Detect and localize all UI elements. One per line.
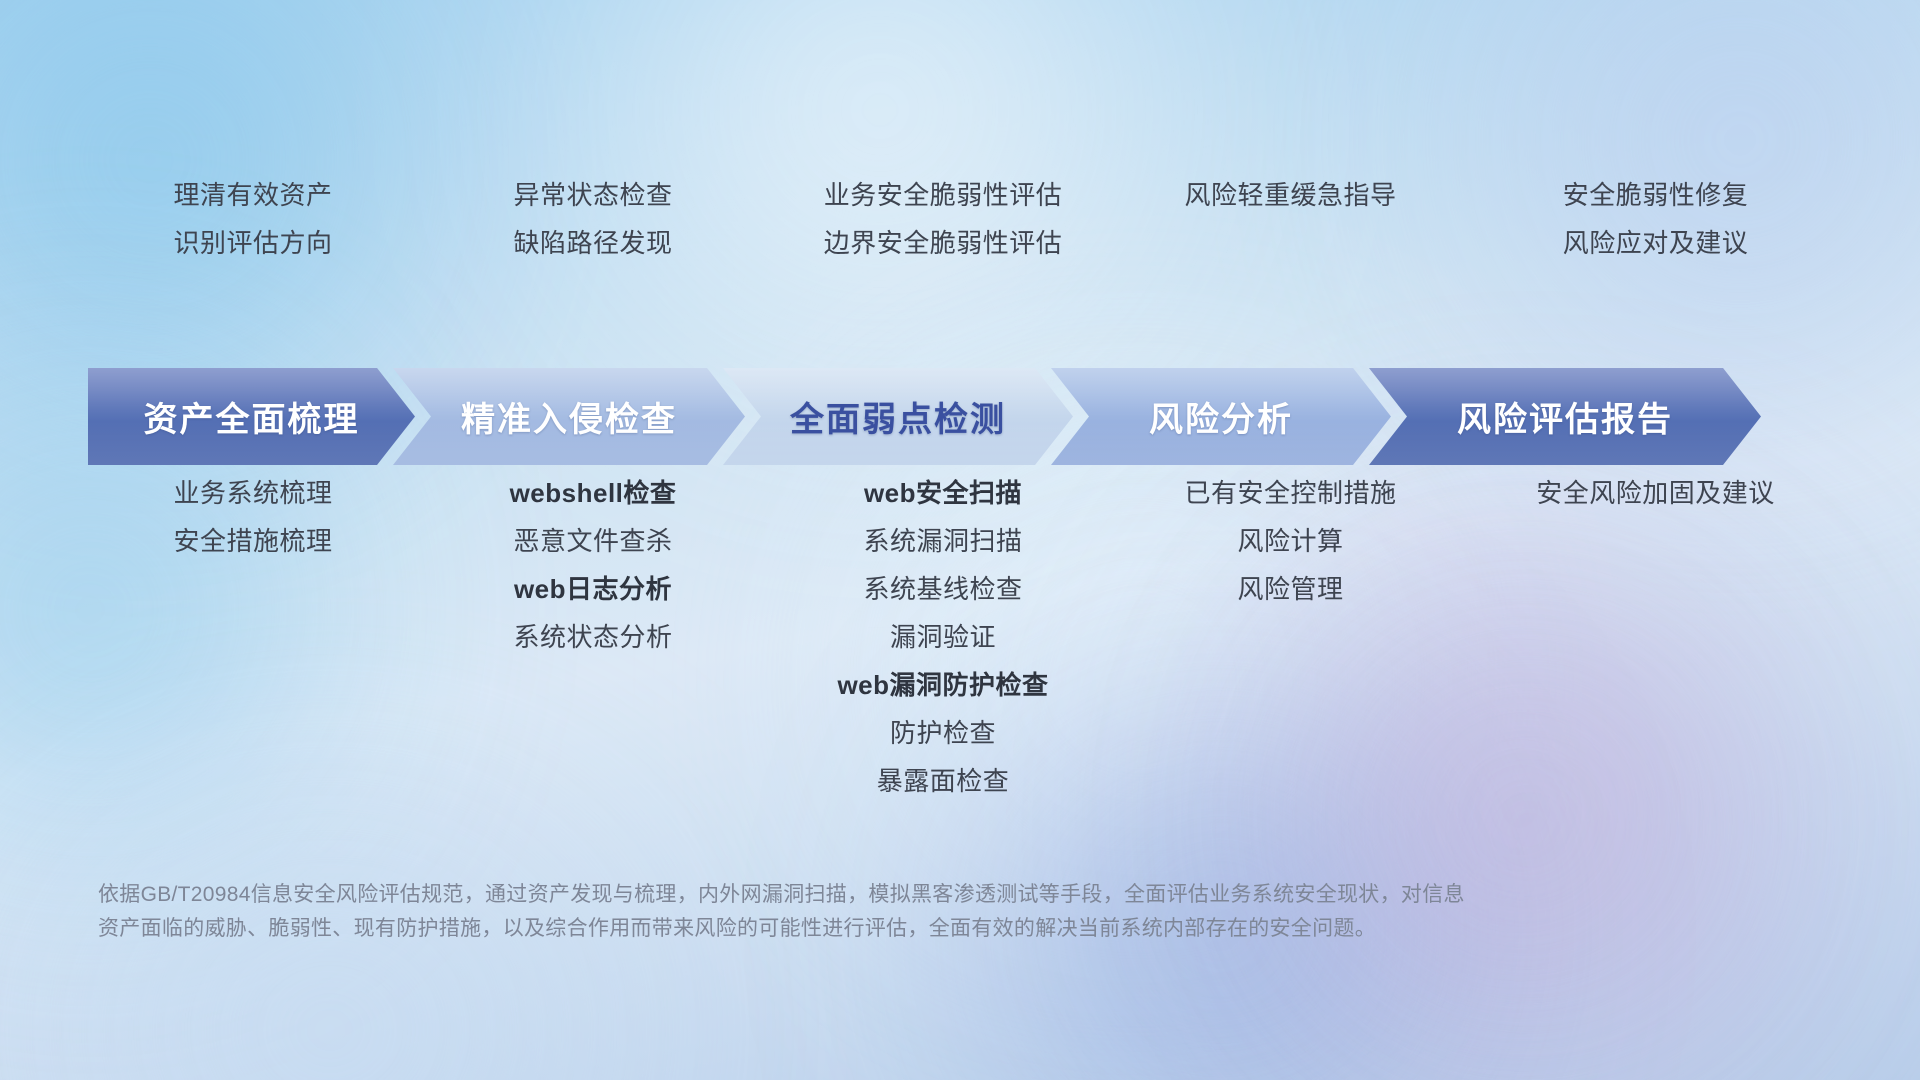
bottom-note: 业务系统梳理 xyxy=(173,480,332,506)
bottom-note: 系统基线检查 xyxy=(863,576,1022,602)
bottom-note: 系统状态分析 xyxy=(513,624,672,650)
bottom-note: web日志分析 xyxy=(514,576,672,602)
bottom-note: webshell检查 xyxy=(510,480,677,506)
chevron-stage-asset-inventory[interactable]: 资产全面梳理 xyxy=(88,368,415,465)
bottom-note: 风险管理 xyxy=(1237,576,1343,602)
bottom-note: 暴露面检查 xyxy=(877,768,1010,794)
top-note: 异常状态检查 xyxy=(513,182,672,208)
top-notes-risk-report: 安全脆弱性修复 风险应对及建议 xyxy=(1463,182,1848,292)
footer-line-2: 资产面临的威胁、脆弱性、现有防护措施，以及综合作用而带来风险的可能性进行评估，全… xyxy=(98,912,1658,946)
bottom-note: 系统漏洞扫描 xyxy=(863,528,1022,554)
top-notes-risk-analysis: 风险轻重缓急指导 xyxy=(1118,182,1463,292)
chevron-label: 风险分析 xyxy=(1149,392,1293,441)
top-note: 边界安全脆弱性评估 xyxy=(824,230,1063,256)
bottom-note: 漏洞验证 xyxy=(890,624,996,650)
top-notes-weakness-detection: 业务安全脆弱性评估 边界安全脆弱性评估 xyxy=(768,182,1118,292)
top-notes-row: 理清有效资产 识别评估方向 异常状态检查 缺陷路径发现 业务安全脆弱性评估 边界… xyxy=(88,182,1848,292)
bottom-note: 风险计算 xyxy=(1237,528,1343,554)
footer-line-1: 依据GB/T20984信息安全风险评估规范，通过资产发现与梳理，内外网漏洞扫描，… xyxy=(98,878,1658,912)
bottom-note: web安全扫描 xyxy=(864,480,1022,506)
top-notes-asset-inventory: 理清有效资产 识别评估方向 xyxy=(88,182,418,292)
bottom-notes-weakness-detection: web安全扫描 系统漏洞扫描 系统基线检查 漏洞验证 web漏洞防护检查 防护检… xyxy=(768,480,1118,770)
top-note: 缺陷路径发现 xyxy=(513,230,672,256)
top-note: 风险轻重缓急指导 xyxy=(1184,182,1396,208)
bottom-note: web漏洞防护检查 xyxy=(837,672,1048,698)
bottom-notes-risk-report: 安全风险加固及建议 xyxy=(1463,480,1848,770)
bottom-notes-intrusion-check: webshell检查 恶意文件查杀 web日志分析 系统状态分析 xyxy=(418,480,768,770)
top-notes-intrusion-check: 异常状态检查 缺陷路径发现 xyxy=(418,182,768,292)
top-note: 风险应对及建议 xyxy=(1563,230,1749,256)
chevron-stage-risk-analysis[interactable]: 风险分析 xyxy=(1051,368,1391,465)
bottom-notes-risk-analysis: 已有安全控制措施 风险计算 风险管理 xyxy=(1118,480,1463,770)
chevron-label: 精准入侵检查 xyxy=(461,392,677,441)
top-note: 识别评估方向 xyxy=(173,230,332,256)
bottom-notes-asset-inventory: 业务系统梳理 安全措施梳理 xyxy=(88,480,418,770)
footer-description: 依据GB/T20984信息安全风险评估规范，通过资产发现与梳理，内外网漏洞扫描，… xyxy=(98,878,1658,946)
slide-content: 理清有效资产 识别评估方向 异常状态检查 缺陷路径发现 业务安全脆弱性评估 边界… xyxy=(0,0,1920,1080)
chevron-label: 资产全面梳理 xyxy=(144,392,360,441)
chevron-label: 风险评估报告 xyxy=(1457,392,1673,441)
chevron-stage-weakness-detection[interactable]: 全面弱点检测 xyxy=(723,368,1073,465)
bottom-notes-row: 业务系统梳理 安全措施梳理 webshell检查 恶意文件查杀 web日志分析 … xyxy=(88,480,1848,770)
bottom-note: 防护检查 xyxy=(890,720,996,746)
bottom-note: 安全措施梳理 xyxy=(173,528,332,554)
bottom-note: 恶意文件查杀 xyxy=(513,528,672,554)
bottom-note: 安全风险加固及建议 xyxy=(1536,480,1775,506)
process-chevron-band: 资产全面梳理 精准入侵检查 全面弱点检测 风险分析 风险评估报告 xyxy=(88,368,1845,465)
top-note: 安全脆弱性修复 xyxy=(1563,182,1749,208)
bottom-note: 已有安全控制措施 xyxy=(1184,480,1396,506)
chevron-stage-risk-report[interactable]: 风险评估报告 xyxy=(1369,368,1761,465)
top-note: 理清有效资产 xyxy=(173,182,332,208)
chevron-label: 全面弱点检测 xyxy=(790,392,1006,441)
chevron-stage-intrusion-check[interactable]: 精准入侵检查 xyxy=(393,368,745,465)
top-note: 业务安全脆弱性评估 xyxy=(824,182,1063,208)
